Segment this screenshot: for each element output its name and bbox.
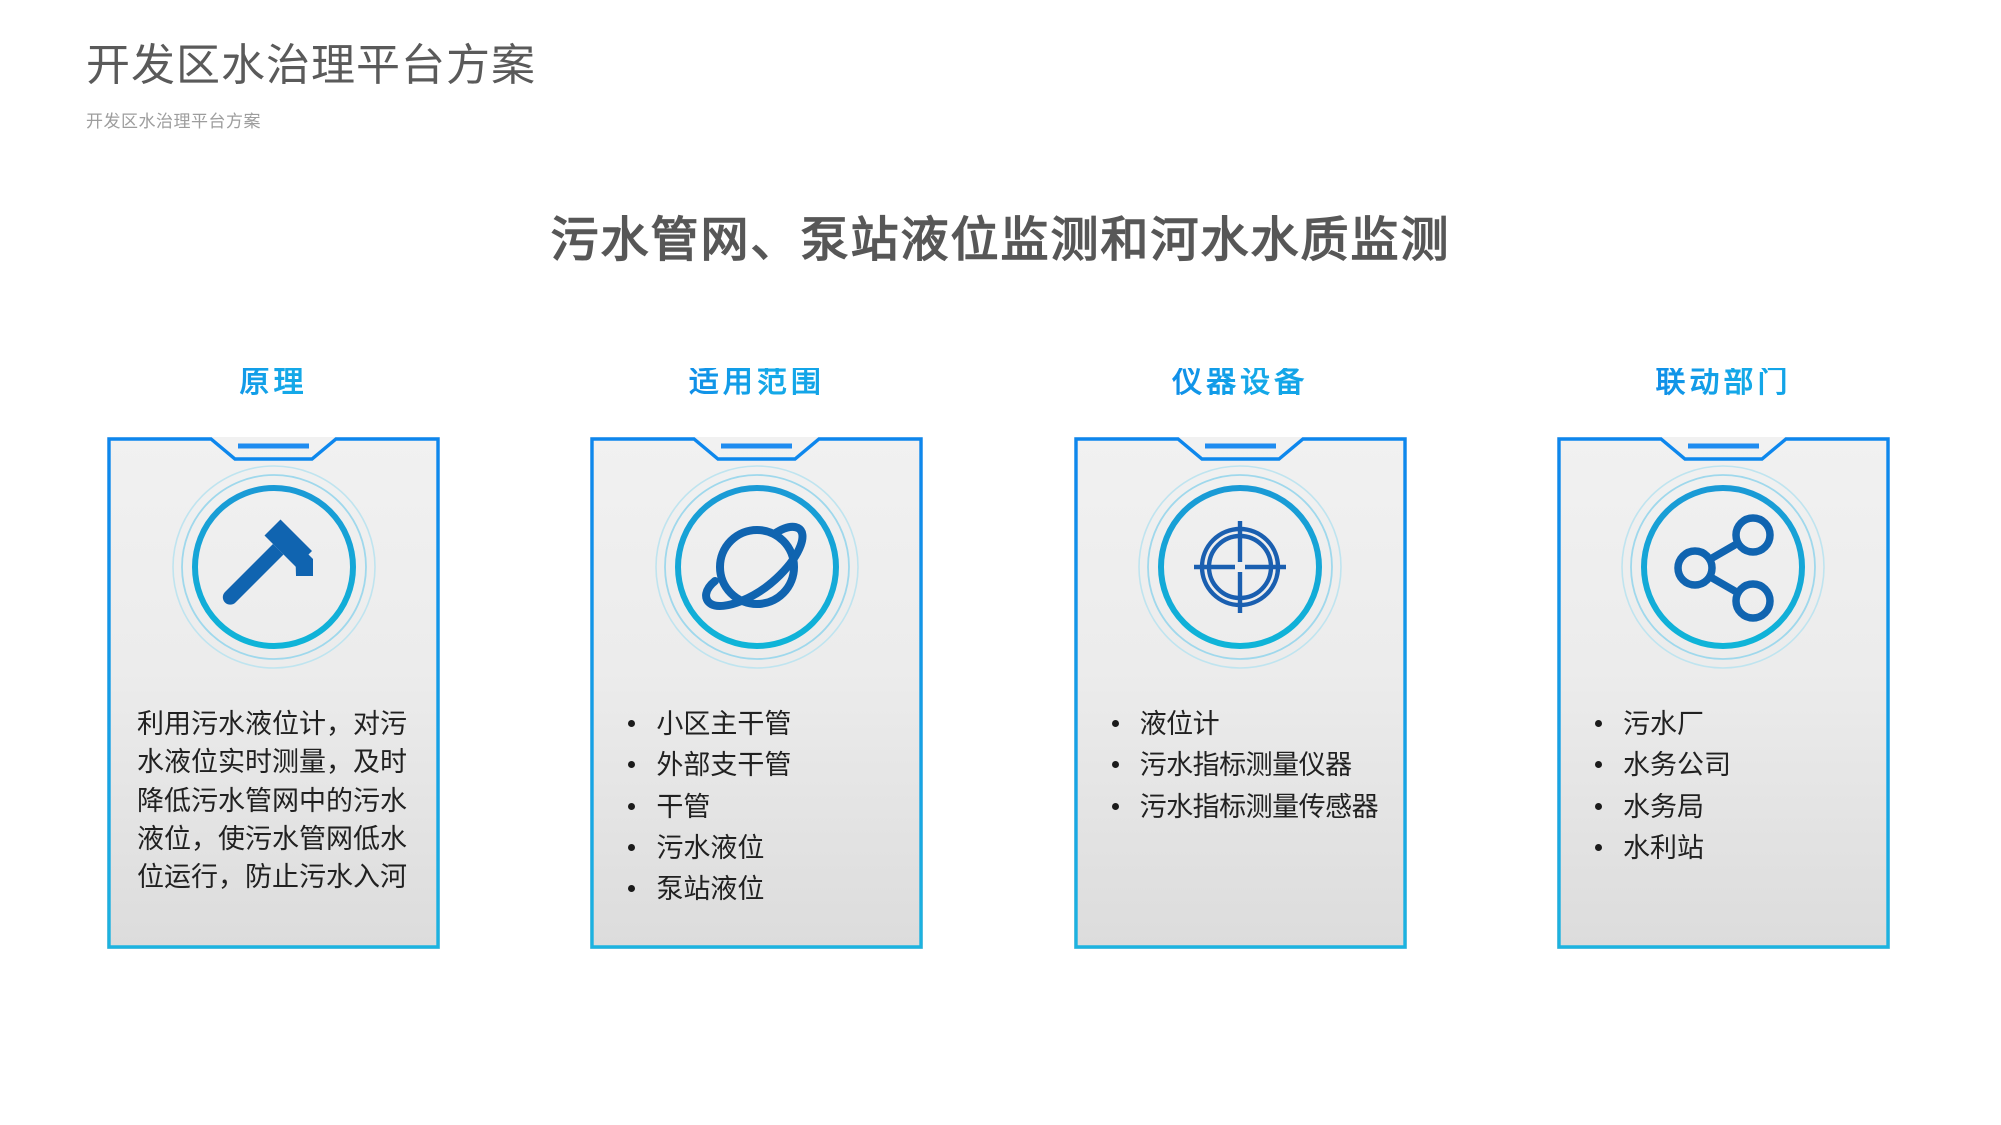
column-heading-departments: 联动部门 — [1557, 368, 1890, 398]
list-item: 外部支干管 — [622, 746, 905, 784]
list-item: 水务局 — [1589, 788, 1872, 826]
column-departments: 联动部门 — [1557, 368, 1890, 968]
column-scope: 适用范围 — [590, 368, 923, 968]
crosshair-icon — [1136, 463, 1344, 671]
list-item: 污水指标测量传感器 — [1106, 788, 1389, 826]
card-equipment[interactable]: 液位计 污水指标测量仪器 污水指标测量传感器 — [1074, 437, 1407, 949]
planet-icon — [653, 463, 861, 671]
hammer-icon — [170, 463, 378, 671]
slide-canvas: 开发区水治理平台方案 开发区水治理平台方案 污水管网、泵站液位监测和河水水质监测… — [0, 0, 2001, 1125]
column-equipment: 仪器设备 — [1074, 368, 1407, 968]
card-bullet-list-scope: 小区主干管 外部支干管 干管 污水液位 泵站液位 — [608, 705, 905, 912]
card-principle[interactable]: 利用污水液位计，对污水液位实时测量，及时降低污水管网中的污水液位，使污水管网低水… — [107, 437, 440, 949]
list-item: 干管 — [622, 788, 905, 826]
list-item: 泵站液位 — [622, 870, 905, 908]
card-body-equipment: 液位计 污水指标测量仪器 污水指标测量传感器 — [1074, 437, 1407, 949]
card-scope[interactable]: 小区主干管 外部支干管 干管 污水液位 泵站液位 — [590, 437, 923, 949]
list-item: 污水厂 — [1589, 705, 1872, 743]
list-item: 污水液位 — [622, 829, 905, 867]
main-title: 污水管网、泵站液位监测和河水水质监测 — [0, 200, 2001, 270]
card-bullet-list-departments: 污水厂 水务公司 水务局 水利站 — [1575, 705, 1872, 870]
list-item: 污水指标测量仪器 — [1106, 746, 1389, 784]
column-heading-equipment: 仪器设备 — [1074, 368, 1407, 398]
card-body-scope: 小区主干管 外部支干管 干管 污水液位 泵站液位 — [590, 437, 923, 949]
card-body-principle: 利用污水液位计，对污水液位实时测量，及时降低污水管网中的污水液位，使污水管网低水… — [107, 437, 440, 949]
column-group: 原理 — [107, 368, 1890, 968]
card-body-departments: 污水厂 水务公司 水务局 水利站 — [1557, 437, 1890, 949]
slide-header: 开发区水治理平台方案 开发区水治理平台方案 — [86, 40, 536, 132]
list-item: 小区主干管 — [622, 705, 905, 743]
list-item: 水务公司 — [1589, 746, 1872, 784]
share-nodes-icon — [1619, 463, 1827, 671]
column-principle: 原理 — [107, 368, 440, 968]
column-heading-principle: 原理 — [107, 368, 440, 398]
card-departments[interactable]: 污水厂 水务公司 水务局 水利站 — [1557, 437, 1890, 949]
column-heading-scope: 适用范围 — [590, 368, 923, 398]
page-title: 开发区水治理平台方案 — [86, 40, 536, 93]
list-item: 水利站 — [1589, 829, 1872, 867]
card-paragraph-principle: 利用污水液位计，对污水液位实时测量，及时降低污水管网中的污水液位，使污水管网低水… — [125, 705, 422, 897]
card-bullet-list-equipment: 液位计 污水指标测量仪器 污水指标测量传感器 — [1092, 705, 1389, 829]
list-item: 液位计 — [1106, 705, 1389, 743]
page-subtitle: 开发区水治理平台方案 — [86, 107, 536, 132]
